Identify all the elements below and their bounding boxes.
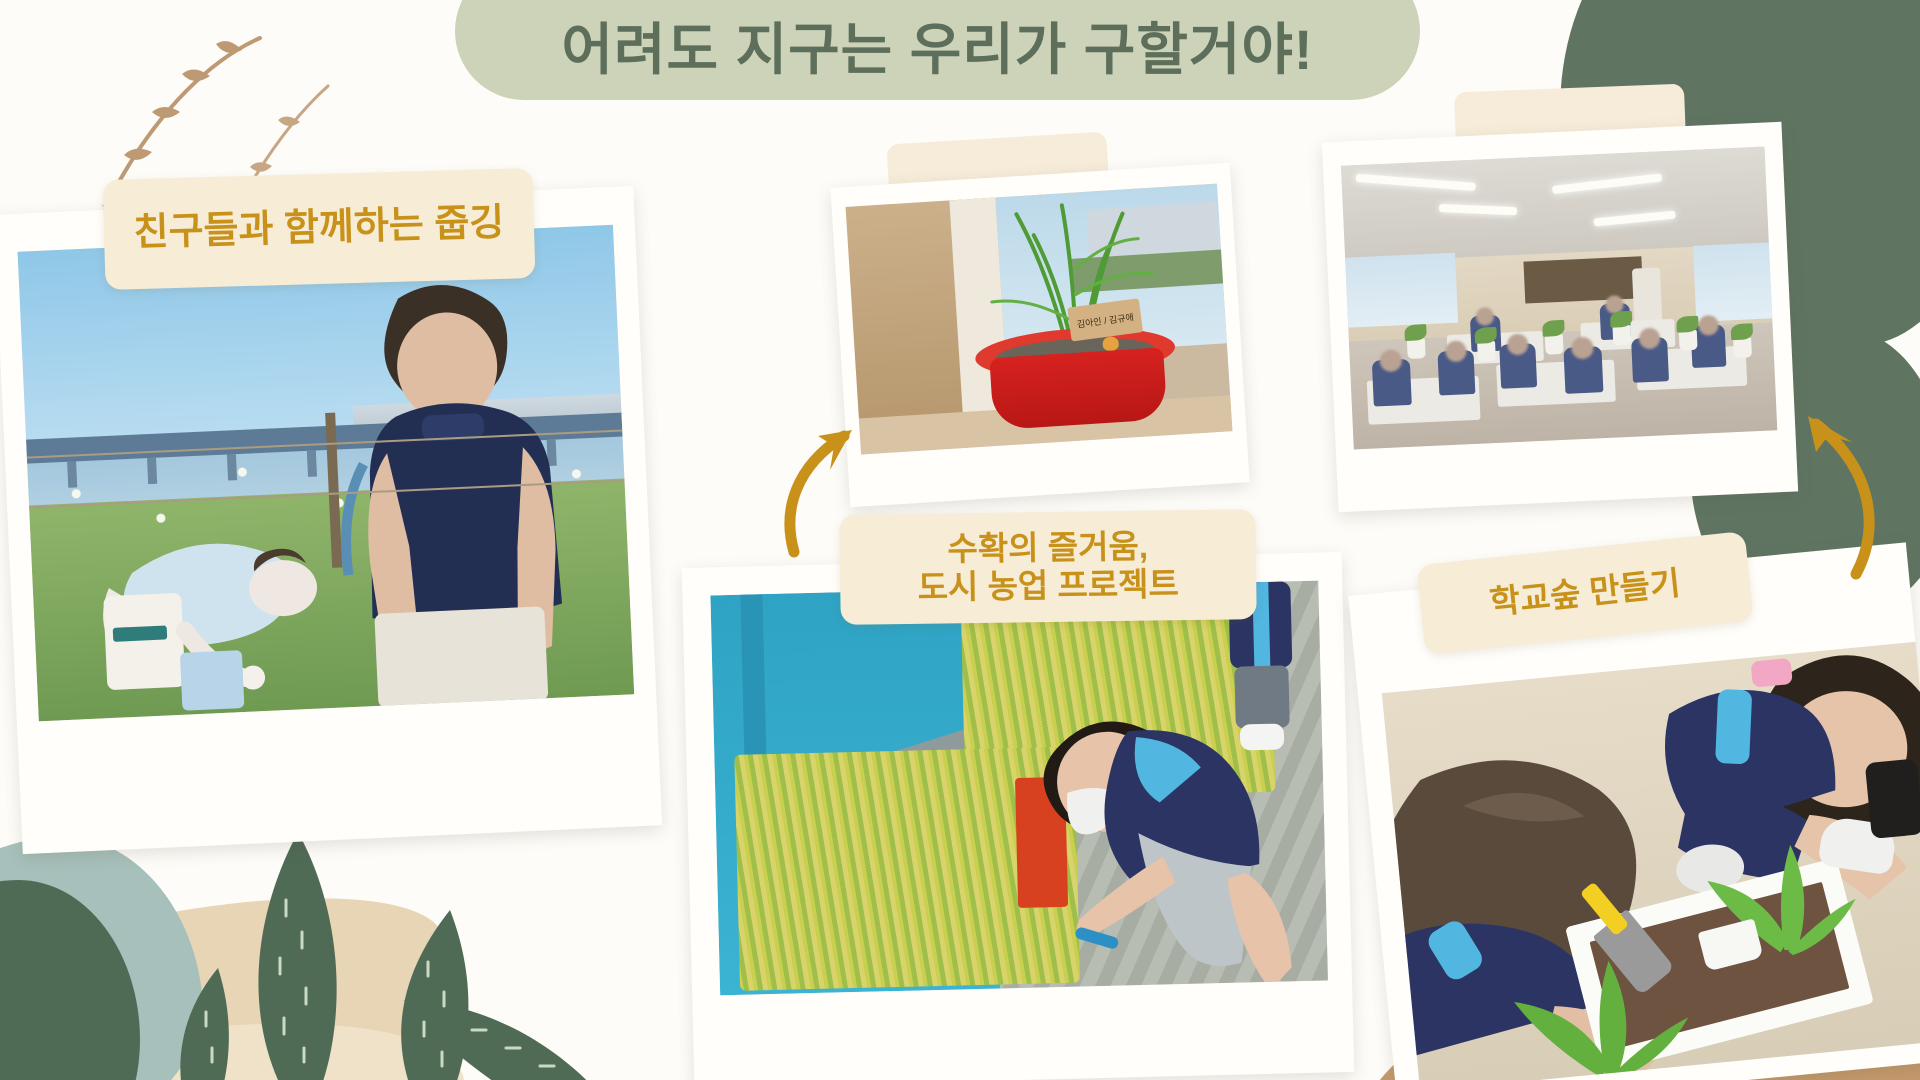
- photo-rice-harvest: [710, 581, 1328, 996]
- label-school-forest-text: 학교숲 만들기: [1488, 564, 1682, 622]
- photo-school-forest-planting: [1382, 642, 1920, 1080]
- label-harvest: 수확의 즐거움, 도시 농업 프로젝트: [839, 509, 1256, 625]
- student-picking-litter: [68, 468, 349, 720]
- photo-card-rice-pot[interactable]: 김아인 / 김규애: [830, 163, 1249, 507]
- photo-riverside-cleanup: [18, 225, 635, 722]
- classroom-window: [1345, 253, 1458, 328]
- poster-title-banner: 어려도 지구는 우리가 구할거야!: [455, 0, 1420, 100]
- label-harvest-line2: 도시 농업 프로젝트: [917, 565, 1179, 607]
- fern-seedling: [1494, 938, 1697, 1080]
- label-harvest-line1: 수확의 즐거움,: [947, 528, 1148, 569]
- chalkboard: [1523, 256, 1643, 303]
- classroom-window: [1693, 242, 1772, 321]
- red-flower-pot: [989, 347, 1167, 430]
- name-tag-text: 김아인 / 김규애: [1076, 310, 1134, 330]
- label-cleanup: 친구들과 함께하는 줍깅: [103, 168, 536, 290]
- shorts: [1865, 758, 1920, 839]
- poster-canvas: 어려도 지구는 우리가 구할거야!: [0, 0, 1920, 1080]
- heart-doodle-icon: [1102, 336, 1119, 351]
- photo-rice-pot-windowsill: 김아인 / 김규애: [846, 184, 1233, 455]
- photo-classroom-plants: [1341, 147, 1777, 450]
- label-cleanup-text: 친구들과 함께하는 줍깅: [133, 202, 505, 256]
- page-title: 어려도 지구는 우리가 구할거야!: [561, 5, 1313, 100]
- photo-card-rice-harvest[interactable]: [682, 552, 1355, 1080]
- arrow-to-classroom-icon: [1760, 400, 1890, 580]
- arrow-to-rice-pot-icon: [760, 400, 890, 560]
- photo-card-classroom[interactable]: [1322, 122, 1798, 512]
- photo-card-riverside-cleanup[interactable]: [0, 186, 662, 854]
